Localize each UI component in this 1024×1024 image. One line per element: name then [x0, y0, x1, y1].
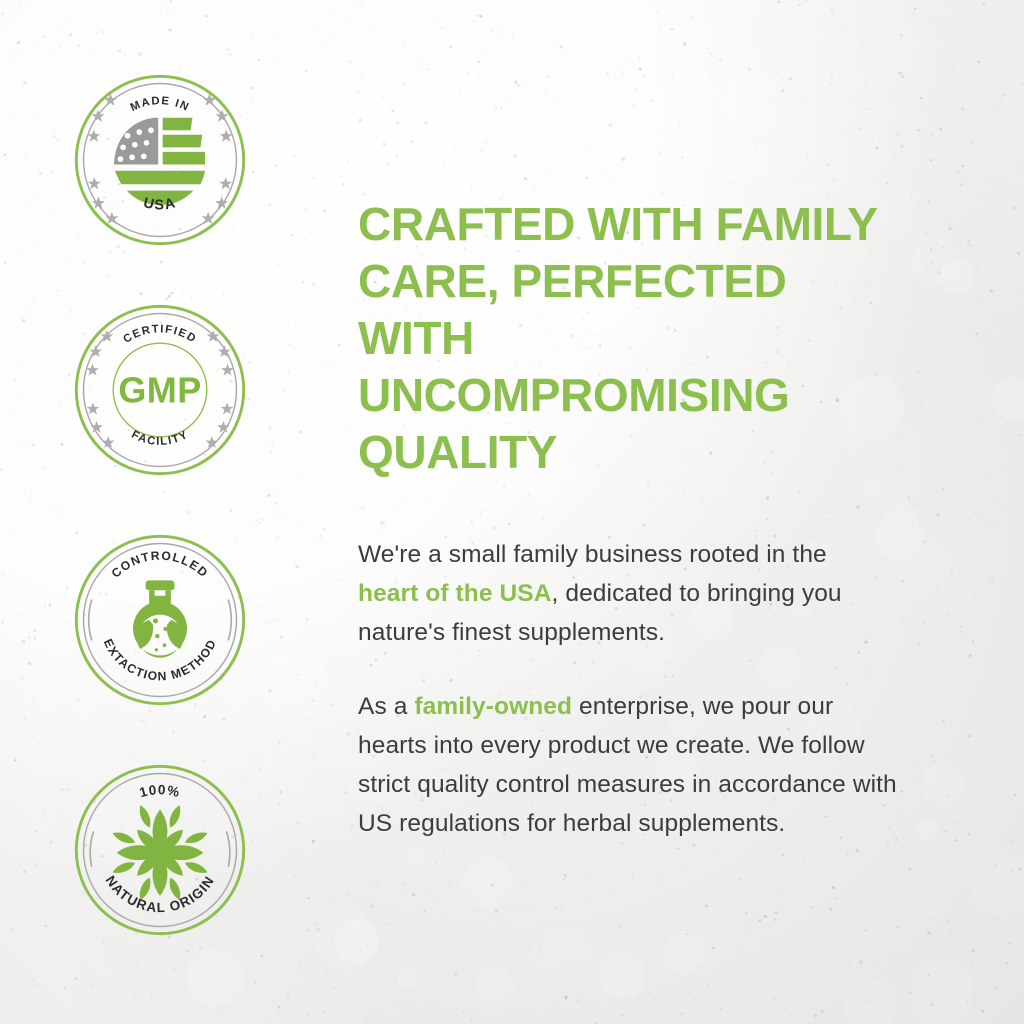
infographic-page: MADE IN USA: [0, 0, 1024, 1024]
trust-badge-rail: MADE IN USA: [0, 0, 320, 1024]
badge-top-label: CONTROLLED: [109, 549, 212, 581]
para1-highlight: heart of the USA: [358, 580, 552, 607]
us-flag-icon: [114, 118, 205, 205]
quality-paragraph: As a family-owned enterprise, we pour ou…: [358, 687, 903, 843]
badge-top-label: CERTIFIED: [121, 323, 198, 346]
intro-paragraph: We're a small family business rooted in …: [358, 535, 878, 652]
badge-bottom-label: USA: [142, 195, 179, 213]
para2-highlight: family-owned: [414, 693, 572, 720]
badge-bottom-label: FACILITY: [129, 429, 190, 448]
page-headline: Crafted with family care, perfected with…: [358, 196, 904, 481]
badge-top-label: 100%: [138, 782, 182, 800]
para2-before: As a: [358, 693, 414, 720]
badge-bottom-label: EXTACTION METHOD: [101, 637, 220, 684]
flask-leaf-icon: [133, 580, 187, 657]
badge-natural-origin: 100% NATURAL ORIGIN: [70, 760, 250, 940]
badge-made-in-usa: MADE IN USA: [70, 70, 250, 250]
badge-gmp-certified-facility: CERTIFIED GMP FACILITY: [70, 300, 250, 480]
badge-center-label: GMP: [118, 370, 201, 411]
content-column: Crafted with family care, perfected with…: [320, 0, 1024, 1024]
para1-before: We're a small family business rooted in …: [358, 541, 827, 568]
badge-top-label: MADE IN: [129, 95, 192, 114]
badge-controlled-extraction-method: CONTROLLED EXTACTION METHOD: [70, 530, 250, 710]
